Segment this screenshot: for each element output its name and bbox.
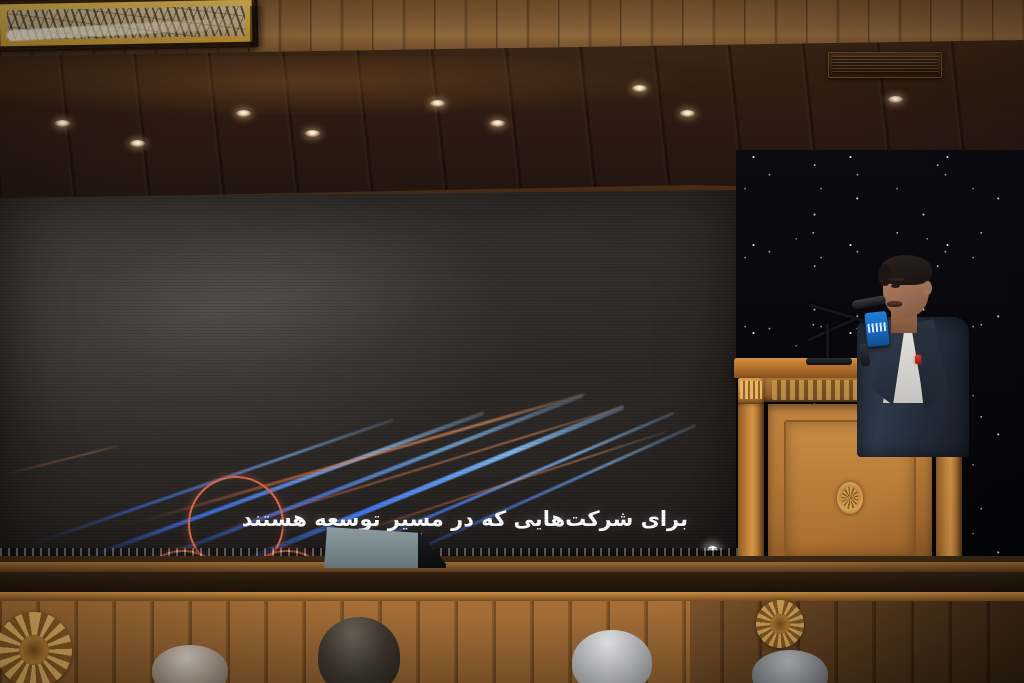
paneling-shadow: [690, 592, 1024, 683]
press-microphone-flag: [864, 311, 889, 347]
sunburst-medallion-left: [0, 612, 72, 683]
ceiling-spotlight-7: [632, 85, 647, 92]
ceiling-spotlight-4: [305, 130, 320, 137]
stage-front-rail: [0, 592, 1024, 601]
presenter-eyebrow: [888, 278, 905, 281]
podium-column-left: [738, 404, 764, 568]
slide-text-line-1: برای شرکت‌هایی که در مسیر توسعه هستند: [242, 507, 688, 531]
boom-mic-base: [806, 358, 852, 365]
sunburst-medallion-right: [756, 600, 804, 648]
ceiling-spotlight-3: [236, 110, 251, 117]
air-vent-grille: [828, 52, 942, 78]
ceiling-spotlight-6: [490, 120, 505, 127]
mic-flag-logo: [867, 322, 886, 333]
stage-floor-edge: [0, 562, 1024, 572]
ceiling-spotlight-5: [430, 100, 445, 107]
stage-monitor-board: [324, 524, 446, 568]
podium-rosette-medallion: [837, 482, 863, 514]
ceiling-spotlight-2: [130, 140, 145, 147]
frame-shadow: [250, 6, 266, 46]
presenter-lapel-pin: [915, 355, 921, 364]
sunburst-core: [770, 614, 789, 633]
calligraphy-mat: [0, 0, 252, 46]
presenter-eye: [891, 284, 900, 288]
presenter-ear: [923, 281, 932, 295]
presentation-screen[interactable]: برای شرکت‌هایی که در مسیر توسعه هستند اس…: [0, 190, 736, 562]
ceiling-spotlight-9: [888, 96, 903, 103]
podium-capital-left: [738, 378, 764, 404]
ceiling-spotlight-8: [680, 110, 695, 117]
boom-arm-lower: [808, 318, 857, 342]
boom-arm-post: [826, 324, 829, 360]
boom-mic-capsule: [851, 295, 886, 310]
monitor-side: [418, 530, 446, 568]
ceiling-spotlight-1: [55, 120, 70, 127]
islamic-calligraphy-panel: [0, 0, 258, 53]
auditorium-scene: برای شرکت‌هایی که در مسیر توسعه هستند اس…: [0, 0, 1024, 683]
monitor-face: [324, 527, 422, 568]
